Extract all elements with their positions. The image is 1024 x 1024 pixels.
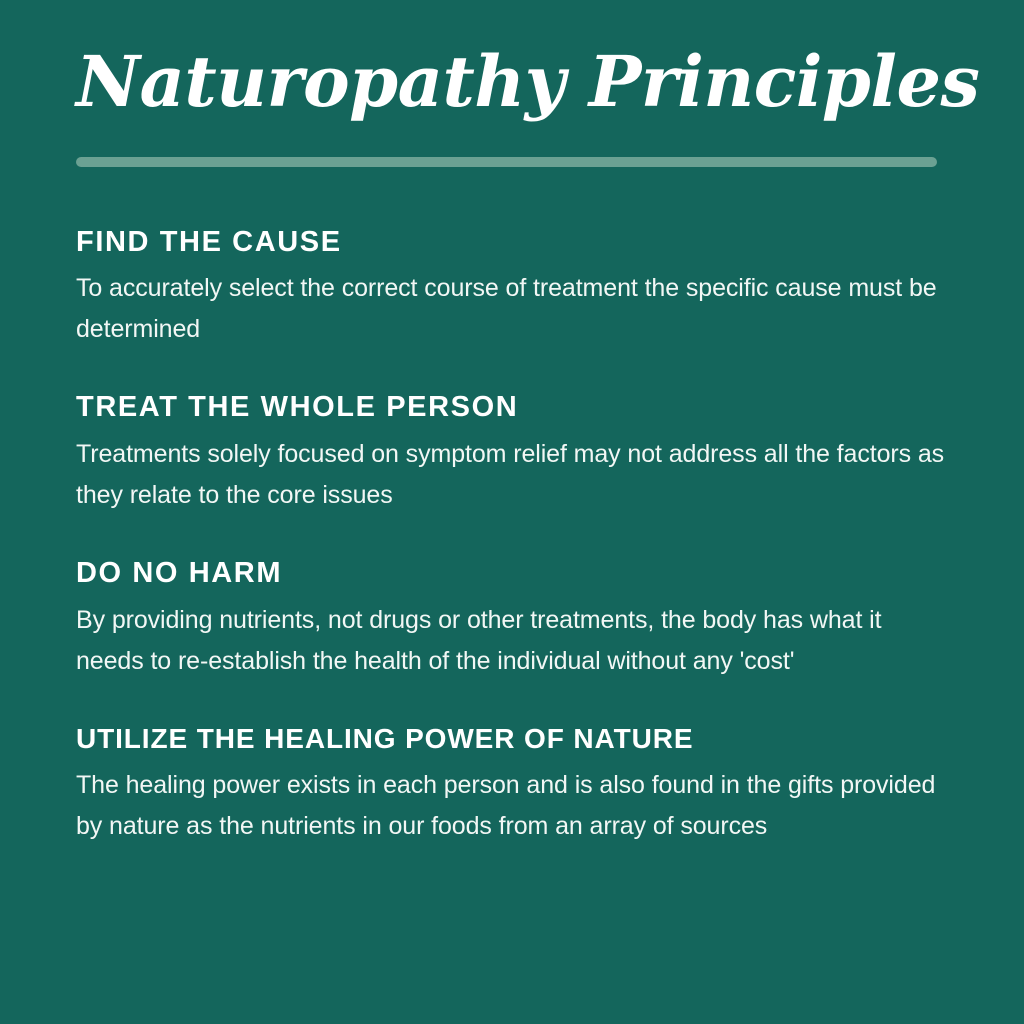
principle-heading: TREAT THE WHOLE PERSON bbox=[76, 392, 948, 424]
principle-item-utilize-the-healing-power-of-nature: UTILIZE THE HEALING POWER OF NATURE The … bbox=[76, 724, 948, 847]
principle-heading: DO NO HARM bbox=[76, 558, 948, 590]
principles-list: FIND THE CAUSE To accurately select the … bbox=[76, 227, 948, 847]
naturopathy-principles-poster: Naturopathy Principles FIND THE CAUSE To… bbox=[0, 0, 1024, 1024]
principle-body: Treatments solely focused on symptom rel… bbox=[76, 434, 948, 516]
principle-heading: UTILIZE THE HEALING POWER OF NATURE bbox=[76, 724, 948, 755]
principle-item-treat-the-whole-person: TREAT THE WHOLE PERSON Treatments solely… bbox=[76, 392, 948, 516]
title-block: Naturopathy Principles bbox=[76, 0, 948, 120]
principle-item-do-no-harm: DO NO HARM By providing nutrients, not d… bbox=[76, 558, 948, 682]
principle-body: By providing nutrients, not drugs or oth… bbox=[76, 600, 948, 682]
principle-item-find-the-cause: FIND THE CAUSE To accurately select the … bbox=[76, 227, 948, 351]
principle-body: To accurately select the correct course … bbox=[76, 268, 948, 350]
title-divider bbox=[76, 157, 937, 167]
principle-heading: FIND THE CAUSE bbox=[76, 227, 948, 259]
page-title: Naturopathy Principles bbox=[76, 44, 948, 120]
principle-body: The healing power exists in each person … bbox=[76, 765, 948, 847]
